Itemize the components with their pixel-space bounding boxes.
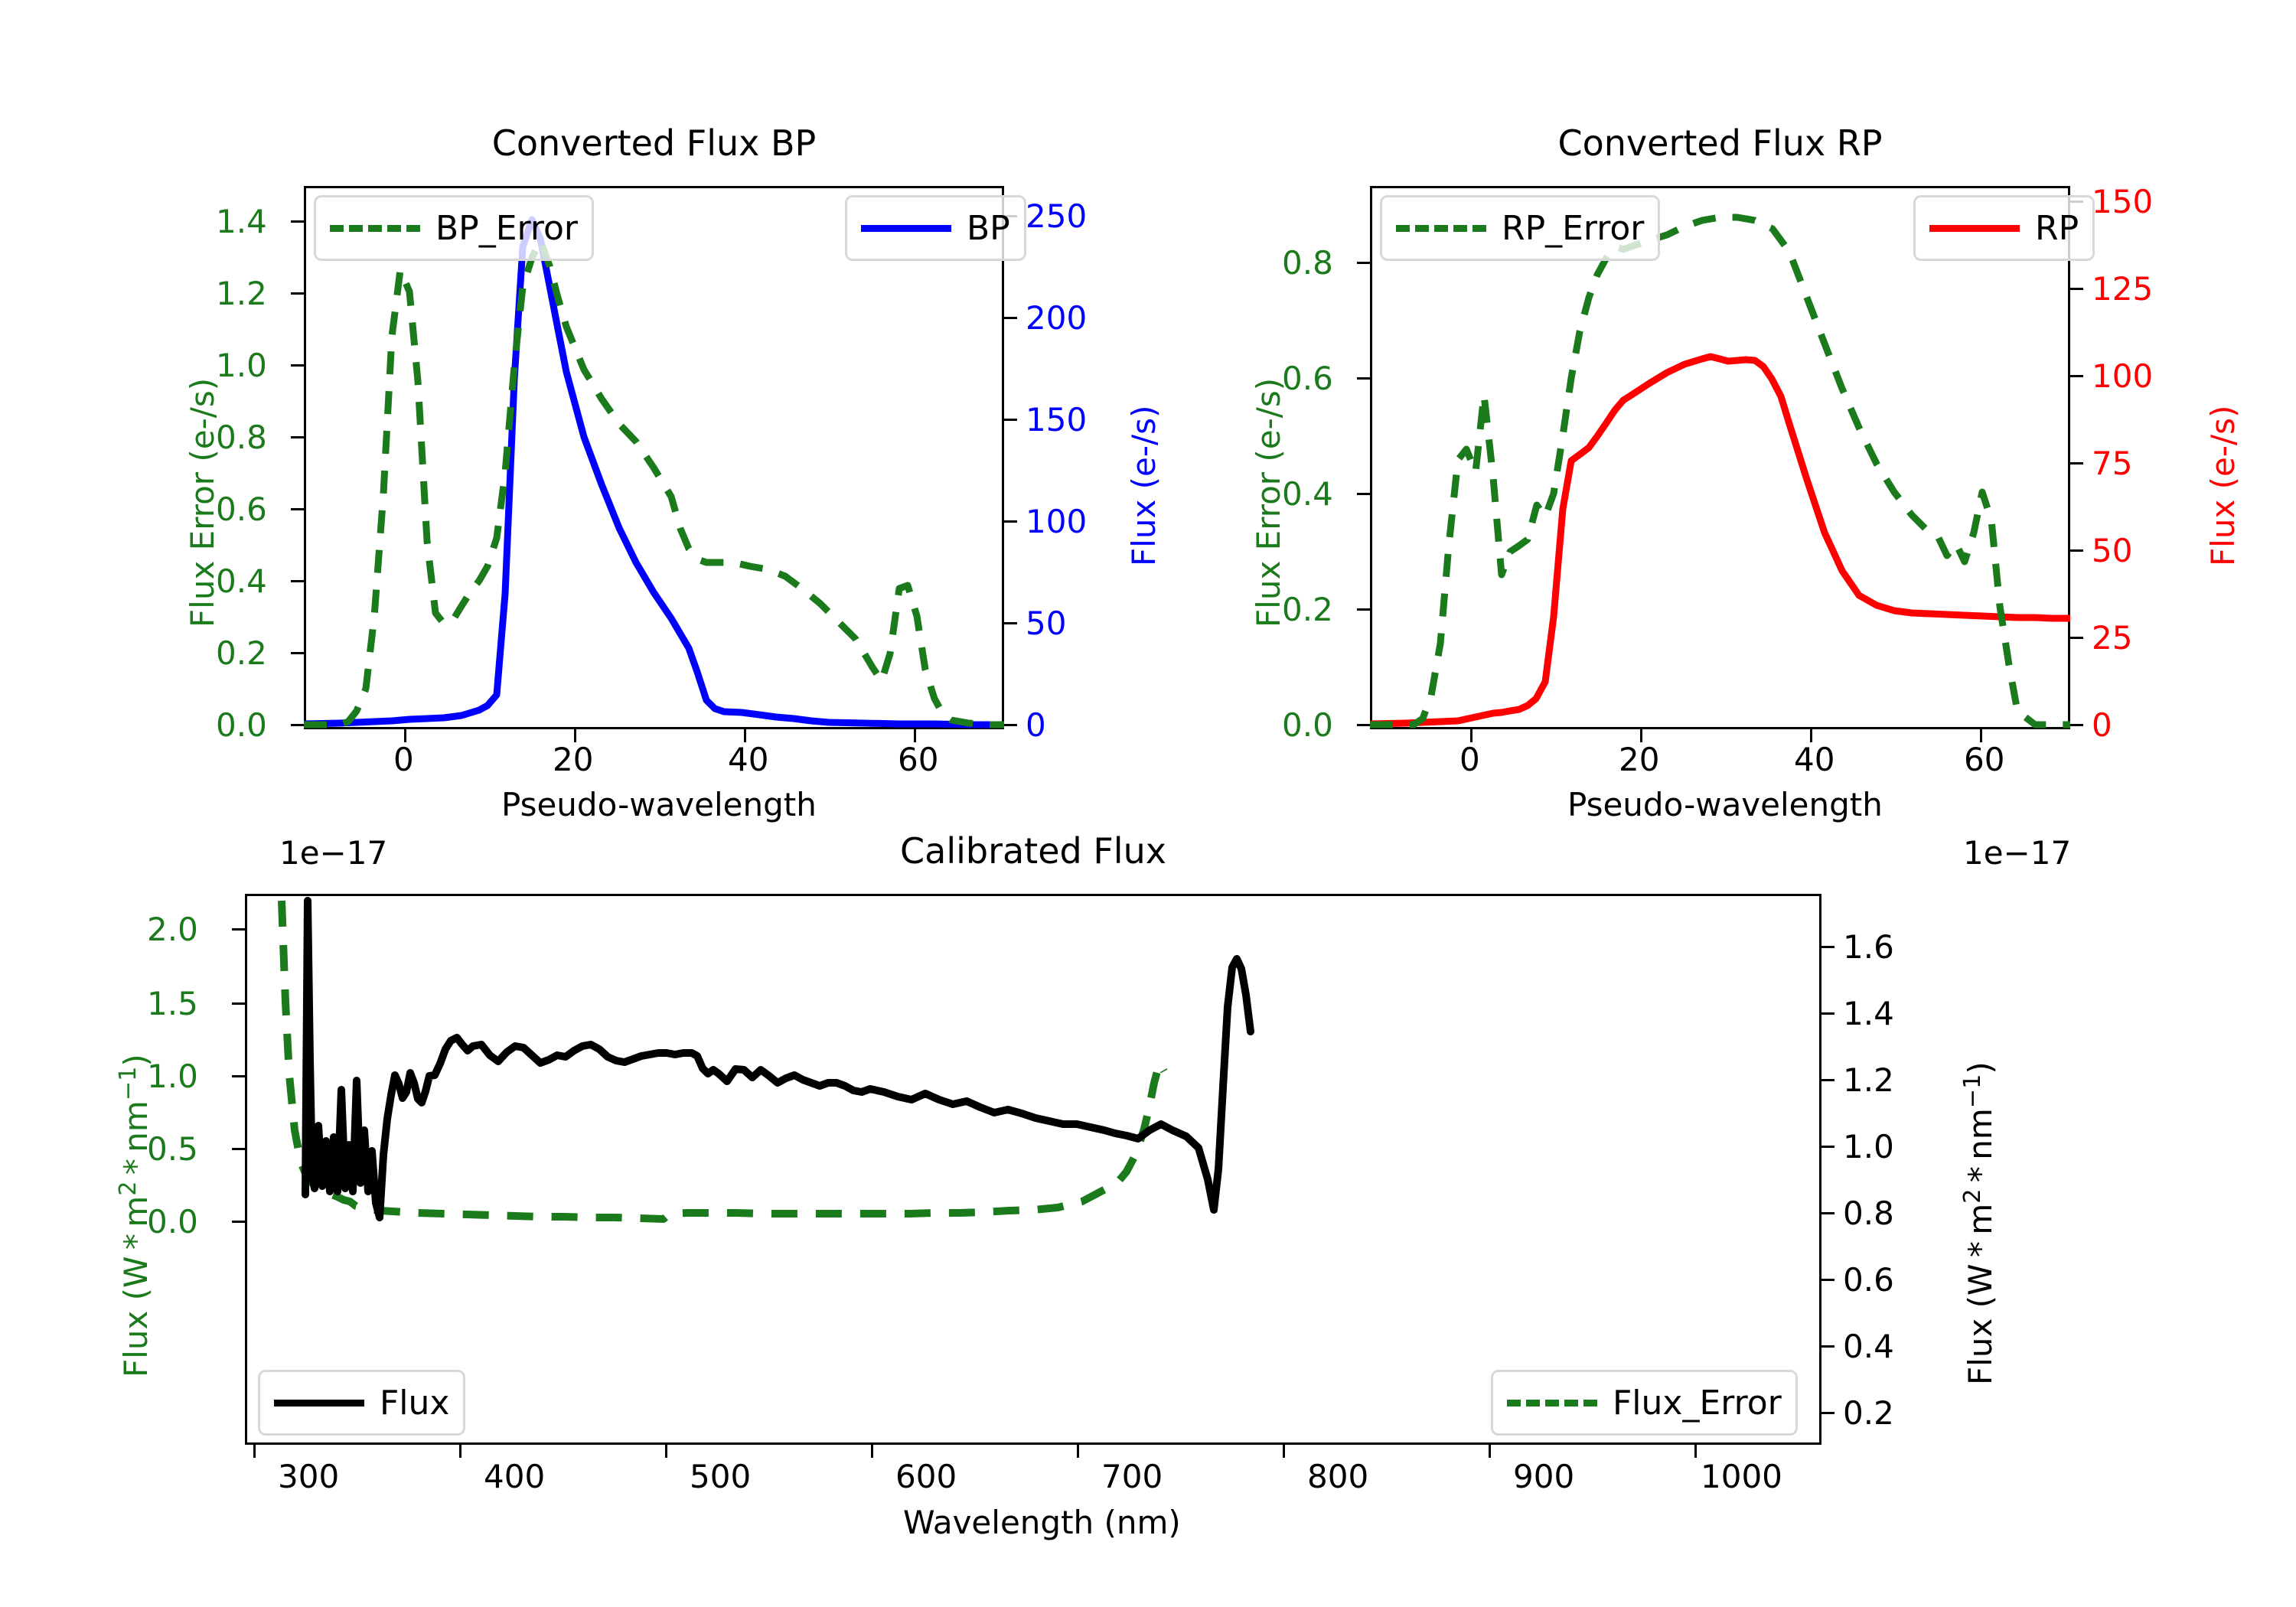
calibrated-right-yaxis-label: Flux (W * m2 * nm−1) (1959, 1061, 1999, 1385)
figure-canvas: Converted Flux BP 0.0 0.2 0.4 0.6 0.8 1.… (0, 0, 2296, 1607)
calibrated-flux-legend-label: Flux (380, 1384, 449, 1423)
calibrated-flux-legend-swatch (274, 1400, 364, 1407)
calibrated-flux-error-legend-label: Flux_Error (1613, 1384, 1782, 1423)
calibrated-flux-error-legend[interactable]: Flux_Error (1491, 1370, 1798, 1436)
calibrated-flux-error-legend-swatch (1507, 1400, 1597, 1407)
calibrated-left-yaxis-label: Flux (W * m2 * nm−1) (115, 1054, 155, 1377)
calibrated-flux-line (305, 901, 1251, 1217)
calibrated-curves-svg (0, 0, 2296, 1607)
calibrated-flux-error-line (282, 901, 1164, 1219)
calibrated-flux-legend[interactable]: Flux (258, 1370, 465, 1436)
calibrated-xaxis-label: Wavelength (nm) (903, 1504, 1181, 1541)
